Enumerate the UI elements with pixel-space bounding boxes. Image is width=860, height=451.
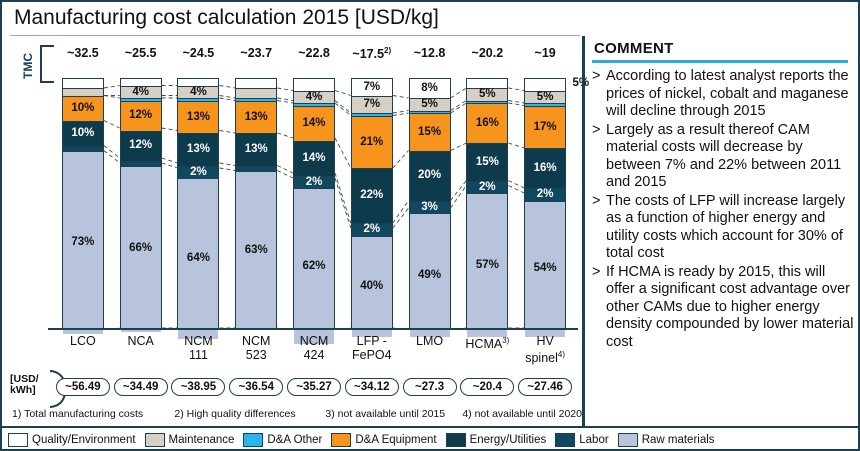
- tmc-axis-label: TMC: [18, 44, 38, 88]
- comment-accent-rule: [592, 60, 848, 63]
- tmc-bracket: [40, 45, 54, 83]
- comment-bullet-glyph: >: [592, 68, 606, 121]
- segment-value-label: 49%: [418, 270, 441, 282]
- bar-segment-d-a-equipment: 16%: [467, 104, 507, 144]
- x-axis-category-label: HCMA3): [458, 334, 516, 376]
- bar-segment-d-a-equipment: 10%: [63, 97, 103, 122]
- bar-segment-energy-utilities: 14%: [294, 142, 334, 177]
- bar-segment-raw-materials: 66%: [121, 167, 161, 332]
- bar-segment-maintenance: 5%: [467, 89, 507, 102]
- bar-segment-maintenance: [236, 89, 276, 99]
- legend-item[interactable]: D&A Other: [243, 433, 322, 447]
- legend-swatch: [145, 433, 165, 447]
- bar-column[interactable]: 5%5%17%16%2%54%: [524, 78, 566, 328]
- segment-value-label: 66%: [129, 243, 152, 255]
- comment-item-text: Largely as a result thereof CAM material…: [606, 122, 854, 192]
- comment-item-text: If HCMA is ready by 2015, this will offe…: [606, 264, 854, 352]
- footnotes: 1) Total manufacturing costs2) High qual…: [12, 408, 582, 424]
- usd-per-kwh-pill: ~27.3: [403, 378, 457, 396]
- comment-panel: COMMENT >According to latest analyst rep…: [592, 38, 854, 424]
- x-axis-label-line1: NCM: [285, 334, 343, 348]
- segment-value-label: 20%: [418, 170, 441, 182]
- stacked-bar[interactable]: 4%14%14%2%62%: [293, 78, 335, 328]
- bar-segment-d-a-equipment: 15%: [410, 114, 450, 152]
- bar-segment-energy-utilities: 10%: [63, 122, 103, 147]
- tmc-value: ~22.8: [285, 46, 343, 68]
- segment-value-label: 22%: [360, 190, 383, 202]
- segment-value-label: 15%: [476, 157, 499, 169]
- legend-swatch: [8, 433, 28, 447]
- segment-value-label: 2%: [477, 182, 498, 194]
- comment-heading: COMMENT: [594, 40, 854, 57]
- bar-segment-d-a-equipment: 12%: [121, 102, 161, 132]
- segment-value-label: 13%: [245, 144, 268, 156]
- usd-per-kwh-pill: ~56.49: [56, 378, 110, 396]
- bar-segment-d-a-equipment: 13%: [236, 102, 276, 135]
- x-axis-category-label: NCM523: [227, 334, 285, 376]
- segment-value-label: 63%: [245, 245, 268, 257]
- tmc-value: ~25.5: [112, 46, 170, 68]
- usd-per-kwh-row: ~56.49~34.49~38.95~36.54~35.27~34.12~27.…: [54, 373, 574, 401]
- segment-value-label: 7%: [361, 99, 382, 111]
- legend-item[interactable]: Maintenance: [145, 433, 235, 447]
- bar-segment-energy-utilities: 12%: [121, 132, 161, 162]
- x-axis-label-line1: LMO: [401, 334, 459, 348]
- segment-value-label: 4%: [304, 92, 325, 104]
- footnote: 3) not available until 2015: [325, 408, 462, 424]
- legend-item[interactable]: Raw materials: [618, 433, 715, 447]
- bar-segment-raw-materials: 62%: [294, 189, 334, 344]
- stacked-bar[interactable]: 10%10%73%: [62, 78, 104, 328]
- segment-value-label: 13%: [187, 144, 210, 156]
- legend-label: D&A Equipment: [355, 434, 436, 446]
- x-axis-category-label: LFP -FePO4: [343, 334, 401, 376]
- x-axis-category-label: LMO: [401, 334, 459, 376]
- x-axis-label-line1: NCM: [227, 334, 285, 348]
- x-axis-category-label: NCA: [112, 334, 170, 376]
- legend-swatch: [446, 433, 466, 447]
- segment-value-label: 2%: [188, 167, 209, 179]
- segment-value-label: 4%: [130, 87, 151, 99]
- segment-value-label: 15%: [418, 127, 441, 139]
- bar-segment-quality-environment: [63, 79, 103, 89]
- segment-value-label: 2%: [535, 189, 556, 201]
- bar-column[interactable]: 4%12%12%66%: [120, 78, 162, 328]
- bar-column[interactable]: 13%13%63%: [235, 78, 277, 328]
- bar-segment-quality-environment: 5%: [525, 79, 565, 92]
- legend-item[interactable]: Energy/Utilities: [446, 433, 547, 447]
- segment-value-label: 5%: [477, 89, 498, 101]
- x-axis-label-line1: NCA: [112, 334, 170, 348]
- bar-column[interactable]: 8%5%15%20%3%49%: [409, 78, 451, 328]
- legend-label: Raw materials: [642, 434, 715, 446]
- usd-per-kwh-cell: ~38.95: [170, 378, 228, 396]
- legend-divider: [2, 426, 858, 428]
- bar-segment-quality-environment: 7%: [352, 79, 392, 97]
- x-axis-category-label: NCM424: [285, 334, 343, 376]
- usd-per-kwh-pill: ~27.46: [518, 378, 572, 396]
- segment-value-label: 10%: [71, 103, 94, 115]
- bar-segment-energy-utilities: 22%: [352, 169, 392, 224]
- segment-value-label: 8%: [419, 83, 440, 95]
- bar-segment-energy-utilities: 13%: [178, 134, 218, 167]
- bar-segment-energy-utilities: 13%: [236, 134, 276, 167]
- bar-segment-maintenance: 5%: [410, 99, 450, 112]
- bar-segment-raw-materials: 73%: [63, 152, 103, 335]
- bar-segment-d-a-equipment: 21%: [352, 117, 392, 170]
- segment-value-label: 2%: [361, 224, 382, 236]
- bar-segment-maintenance: 4%: [178, 87, 218, 100]
- x-axis-category-label: NCM111: [170, 334, 228, 376]
- segment-value-label: 14%: [302, 153, 325, 165]
- x-axis-label-line1: LFP -: [343, 334, 401, 348]
- usd-per-kwh-label: [USD/ kWh]: [10, 374, 52, 396]
- usd-per-kwh-cell: ~56.49: [54, 378, 112, 396]
- segment-value-label: 14%: [302, 118, 325, 130]
- tmc-value-footnote-marker: 2): [384, 46, 391, 55]
- tmc-value: ~19: [516, 46, 574, 68]
- x-axis-label-line1: LCO: [54, 334, 112, 348]
- x-axis-label-line1: HCMA3): [458, 334, 516, 351]
- tmc-value: ~32.5: [54, 46, 112, 68]
- bar-segment-raw-materials: 57%: [467, 194, 507, 337]
- segment-value-label: 21%: [360, 137, 383, 149]
- comment-panel-divider: [582, 36, 585, 426]
- bar-segment-energy-utilities: 16%: [525, 149, 565, 189]
- comment-list-item: >The costs of LFP will increase largely …: [592, 193, 854, 263]
- bar-column[interactable]: 5%16%15%2%57%: [466, 78, 508, 328]
- comment-item-text: According to latest analyst reports the …: [606, 68, 854, 121]
- bar-segment-maintenance: [63, 89, 103, 97]
- legend-swatch: [243, 433, 263, 447]
- segment-value-label: 57%: [476, 260, 499, 272]
- bar-column[interactable]: 4%13%13%2%64%: [177, 78, 219, 328]
- usd-per-kwh-cell: ~27.3: [401, 378, 459, 396]
- tmc-value: ~23.7: [227, 46, 285, 68]
- comment-bullet-glyph: >: [592, 264, 606, 352]
- bar-segment-raw-materials: 49%: [410, 214, 450, 337]
- segment-value-label: 5%: [570, 77, 591, 89]
- bar-segment-d-a-equipment: 13%: [178, 102, 218, 135]
- tmc-value: ~20.2: [458, 46, 516, 68]
- bar-segment-raw-materials: 63%: [236, 172, 276, 330]
- x-axis-label-line2: 523: [227, 348, 285, 362]
- x-axis-label-line2: 111: [170, 348, 228, 362]
- x-axis-label-line1: NCM: [170, 334, 228, 348]
- tmc-value: ~24.5: [170, 46, 228, 68]
- stacked-bar[interactable]: 5%16%15%2%57%: [466, 78, 508, 328]
- bar-segment-raw-materials: 64%: [178, 179, 218, 339]
- footnote: 1) Total manufacturing costs: [12, 408, 174, 424]
- segment-value-label: 3%: [419, 202, 440, 214]
- comment-list-item: >If HCMA is ready by 2015, this will off…: [592, 264, 854, 352]
- tmc-value-row: ~32.5~25.5~24.5~23.7~22.8~17.52)~12.8~20…: [54, 46, 574, 68]
- segment-value-label: 16%: [534, 163, 557, 175]
- legend-label: Energy/Utilities: [470, 434, 547, 446]
- usd-per-kwh-cell: ~20.4: [458, 378, 516, 396]
- segment-value-label: 7%: [361, 82, 382, 94]
- stacked-bar[interactable]: 8%5%15%20%3%49%: [409, 78, 451, 328]
- bar-segment-quality-environment: 8%: [410, 79, 450, 99]
- legend-item[interactable]: Quality/Environment: [8, 433, 136, 447]
- legend-label: D&A Other: [267, 434, 322, 446]
- usd-per-kwh-cell: ~36.54: [227, 378, 285, 396]
- legend-item[interactable]: Labor: [555, 433, 608, 447]
- usd-per-kwh-cell: ~35.27: [285, 378, 343, 396]
- bar-segment-d-a-equipment: 17%: [525, 107, 565, 150]
- usd-label-line2: kWh]: [10, 385, 52, 396]
- bar-segment-energy-utilities: 15%: [467, 144, 507, 182]
- stacked-bar[interactable]: 13%13%63%: [235, 78, 277, 328]
- legend-label: Labor: [579, 434, 608, 446]
- comment-list-item: >According to latest analyst reports the…: [592, 68, 854, 121]
- usd-per-kwh-pill: ~34.12: [345, 378, 399, 396]
- legend-swatch: [331, 433, 351, 447]
- legend-item[interactable]: D&A Equipment: [331, 433, 436, 447]
- bar-segment-labor: 2%: [467, 182, 507, 195]
- bar-segment-labor: 2%: [352, 224, 392, 237]
- stacked-bar[interactable]: 4%13%13%2%64%: [177, 78, 219, 328]
- tmc-value: ~17.52): [343, 46, 401, 68]
- legend-label: Quality/Environment: [32, 434, 136, 446]
- bar-column[interactable]: 7%7%21%22%2%40%: [351, 78, 393, 328]
- x-axis-baseline: [48, 328, 578, 330]
- x-axis-category-label: LCO: [54, 334, 112, 376]
- page-title: Manufacturing cost calculation 2015 [USD…: [14, 6, 439, 30]
- segment-value-label: 12%: [129, 140, 152, 152]
- stacked-bar[interactable]: 5%5%17%16%2%54%: [524, 78, 566, 328]
- bar-column[interactable]: 4%14%14%2%62%: [293, 78, 335, 328]
- segment-value-label: 17%: [534, 122, 557, 134]
- bar-segment-labor: 2%: [525, 189, 565, 202]
- segment-value-label: 4%: [188, 87, 209, 99]
- comment-bullet-glyph: >: [592, 193, 606, 263]
- stacked-bar-plot: 10%10%73%4%12%12%66%4%13%13%2%64%13%13%6…: [54, 78, 574, 328]
- stacked-bar[interactable]: 7%7%21%22%2%40%: [351, 78, 393, 328]
- bar-segment-maintenance: 7%: [352, 97, 392, 115]
- bar-segment-maintenance: 5%: [525, 92, 565, 105]
- segment-value-label: 13%: [245, 112, 268, 124]
- bar-column[interactable]: 10%10%73%: [62, 78, 104, 328]
- chart-legend: Quality/EnvironmentMaintenanceD&A OtherD…: [8, 431, 856, 449]
- segment-value-label: 2%: [304, 177, 325, 189]
- segment-value-label: 73%: [71, 237, 94, 249]
- bar-segment-maintenance: 4%: [294, 92, 334, 105]
- x-axis-labels: LCONCANCM111NCM523NCM424LFP -FePO4LMOHCM…: [54, 334, 574, 376]
- x-axis-label-footnote-marker: 4): [558, 350, 565, 359]
- bar-segment-quality-environment: [236, 79, 276, 89]
- bar-segment-labor: 2%: [178, 167, 218, 180]
- usd-per-kwh-cell: ~34.12: [343, 378, 401, 396]
- x-axis-label-line1: HV spinel4): [516, 334, 574, 365]
- usd-per-kwh-pill: ~20.4: [460, 378, 514, 396]
- usd-per-kwh-cell: ~27.46: [516, 378, 574, 396]
- comment-bullet-glyph: >: [592, 122, 606, 192]
- tmc-value: ~12.8: [401, 46, 459, 68]
- segment-value-label: 16%: [476, 118, 499, 130]
- bar-segment-raw-materials: 40%: [352, 237, 392, 337]
- footnote: 4) not available until 2020: [462, 408, 582, 424]
- legend-swatch: [555, 433, 575, 447]
- x-axis-label-line2: FePO4: [343, 348, 401, 362]
- bar-segment-maintenance: 4%: [121, 87, 161, 100]
- stacked-bar[interactable]: 4%12%12%66%: [120, 78, 162, 328]
- bar-segment-energy-utilities: 20%: [410, 152, 450, 202]
- x-axis-label-footnote-marker: 3): [502, 336, 509, 345]
- legend-swatch: [618, 433, 638, 447]
- legend-label: Maintenance: [169, 434, 235, 446]
- segment-value-label: 12%: [129, 110, 152, 122]
- usd-per-kwh-pill: ~36.54: [229, 378, 283, 396]
- segment-value-label: 62%: [302, 261, 325, 273]
- tmc-axis-label-text: TMC: [21, 53, 35, 79]
- segment-value-label: 13%: [187, 112, 210, 124]
- usd-per-kwh-pill: ~34.49: [114, 378, 168, 396]
- bar-segment-raw-materials: 54%: [525, 202, 565, 337]
- footnote: 2) High quality differences: [174, 408, 325, 424]
- segment-value-label: 10%: [71, 128, 94, 140]
- segment-value-label: 5%: [419, 99, 440, 111]
- bar-segment-quality-environment: [294, 79, 334, 92]
- segment-value-label: 40%: [360, 281, 383, 293]
- segment-value-label: 5%: [535, 92, 556, 104]
- slide-root: Manufacturing cost calculation 2015 [USD…: [0, 0, 860, 451]
- x-axis-category-label: HV spinel4): [516, 334, 574, 376]
- x-axis-label-line2: 424: [285, 348, 343, 362]
- usd-per-kwh-cell: ~34.49: [112, 378, 170, 396]
- bar-segment-labor: 2%: [294, 177, 334, 190]
- usd-per-kwh-pill: ~38.95: [171, 378, 225, 396]
- bar-segment-labor: 3%: [410, 202, 450, 215]
- bar-segment-d-a-equipment: 14%: [294, 107, 334, 142]
- segment-value-label: 64%: [187, 253, 210, 265]
- comment-list-item: >Largely as a result thereof CAM materia…: [592, 122, 854, 192]
- comment-item-text: The costs of LFP will increase largely a…: [606, 193, 854, 263]
- title-divider: [10, 35, 580, 36]
- comment-list: >According to latest analyst reports the…: [592, 68, 854, 351]
- usd-per-kwh-pill: ~35.27: [287, 378, 341, 396]
- segment-value-label: 54%: [534, 263, 557, 275]
